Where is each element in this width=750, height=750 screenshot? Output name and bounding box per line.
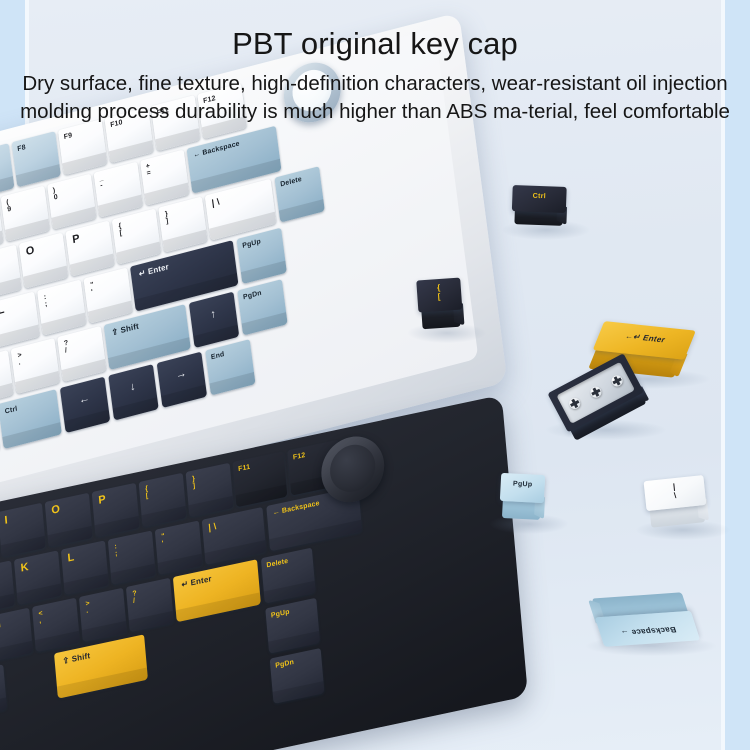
keycap-legend: ⇧ Shift — [62, 652, 90, 666]
keycap-legend: PgDn — [243, 290, 262, 302]
keycap-legend: L — [0, 305, 5, 318]
keycap-letter[interactable]: < , — [32, 598, 80, 653]
keycap-letter[interactable]: " ' — [155, 520, 203, 575]
keycap-legend: PgUp — [271, 609, 290, 620]
keycap-legend: ⇧ Shift — [111, 322, 139, 337]
keycap-legend: Ctrl — [5, 405, 18, 416]
keycap-legend: | \ — [673, 483, 677, 501]
keycap-legend: } ] — [165, 211, 170, 226]
keycap-legend: → — [158, 364, 204, 387]
keycap-legend: | \ — [208, 522, 217, 533]
keycap-legend: ? / — [64, 340, 70, 356]
keycap-legend: PgDn — [275, 659, 294, 670]
keycap-legend: Backspace → — [619, 625, 677, 638]
keycap-legend: ← — [61, 389, 107, 412]
keycap-legend: { [ — [437, 284, 442, 302]
keycap-legend: Delete — [266, 558, 288, 570]
keycap-legend: ← Backspace — [273, 500, 320, 517]
keycap-legend: L — [67, 552, 75, 565]
keycap-legend: ( 9 — [6, 199, 12, 215]
rotary-knob-top — [328, 440, 377, 496]
keycap-legend: P — [98, 494, 106, 507]
keycap-legend: F12 — [293, 452, 306, 462]
keycap-legend: > . — [17, 352, 23, 368]
keycap-letter[interactable]: ? / — [126, 578, 174, 633]
keycap-legend: : ; — [44, 294, 48, 309]
keycap-top-face: PgUp — [500, 473, 545, 503]
keycap-legend: Ctrl — [533, 193, 547, 200]
keycap-legend: End — [211, 351, 225, 362]
keycap-legend: O — [25, 245, 35, 259]
keycap-legend: Delete — [280, 176, 302, 189]
keycap-legend: + = — [145, 162, 151, 178]
keycap-legend: { [ — [118, 223, 123, 238]
keycap-legend: ? / — [132, 590, 138, 606]
page-subtitle: Dry surface, fine texture, high-definiti… — [0, 70, 750, 125]
keycap-legend: ↵ Enter — [139, 263, 170, 279]
keycap-legend: K — [20, 562, 29, 575]
keycap-top-face: | \ — [644, 475, 707, 511]
keycap-letter[interactable]: L — [61, 540, 109, 595]
floating-keycap-bracket[interactable]: { [ — [416, 278, 464, 333]
keycap-top-face: { [ — [416, 278, 462, 313]
keycap-legend: F9 — [63, 132, 72, 141]
keycap-top-face: Ctrl — [512, 185, 567, 213]
keycap-letter[interactable]: : ; — [108, 530, 156, 585]
keycap-legend: PgUp — [242, 238, 261, 250]
keycap-letter[interactable]: I — [0, 503, 46, 558]
keycap-legend: ↓ — [110, 376, 156, 399]
keycap-legend: " ' — [161, 533, 166, 548]
keycap-letter[interactable]: } ] — [186, 463, 234, 518]
keycap-legend: : ; — [114, 543, 118, 558]
keycap-legend: I — [4, 515, 8, 527]
keycap-legend: P — [72, 233, 81, 246]
keycap-letter[interactable]: P — [92, 483, 140, 538]
product-image: PBT original key cap Dry surface, fine t… — [0, 0, 750, 750]
header-block: PBT original key cap Dry surface, fine t… — [0, 0, 750, 125]
keycap-legend: } ] — [192, 475, 196, 490]
keycap-legend: F11 — [238, 464, 251, 474]
floating-keycap-pgup[interactable]: PgUp — [499, 473, 545, 523]
floating-keycap-backspace[interactable]: Backspace → — [588, 589, 700, 647]
keycap-legend: PgUp — [513, 481, 533, 489]
keycap-legend: ) 0 — [52, 187, 58, 203]
keycap-legend: " ' — [90, 281, 95, 297]
keycap-legend: M — [0, 619, 2, 633]
floating-keycap-pipe[interactable]: | \ — [644, 475, 709, 531]
keycap-letter[interactable]: K — [14, 550, 62, 605]
page-title: PBT original key cap — [0, 27, 750, 60]
keycap-letter[interactable]: > . — [79, 588, 127, 643]
keycap-legend: ←↵ Enter — [624, 332, 667, 345]
keycap-legend: _ - — [99, 175, 105, 191]
keycap-legend: O — [51, 504, 61, 517]
keycap-letter[interactable]: O — [45, 493, 93, 548]
keycap-legend: ↵ Enter — [181, 575, 212, 590]
keycap-legend: F8 — [17, 144, 26, 153]
keycap-letter[interactable]: { [ — [139, 473, 187, 528]
keycap-legend: > . — [85, 600, 90, 616]
keycap-legend: ↑ — [190, 304, 236, 327]
keycap-legend: { [ — [145, 485, 149, 500]
keycap-legend: | \ — [211, 197, 220, 208]
keycap-legend: < , — [38, 610, 43, 626]
floating-keycap-ctrl[interactable]: Ctrl — [511, 185, 566, 229]
